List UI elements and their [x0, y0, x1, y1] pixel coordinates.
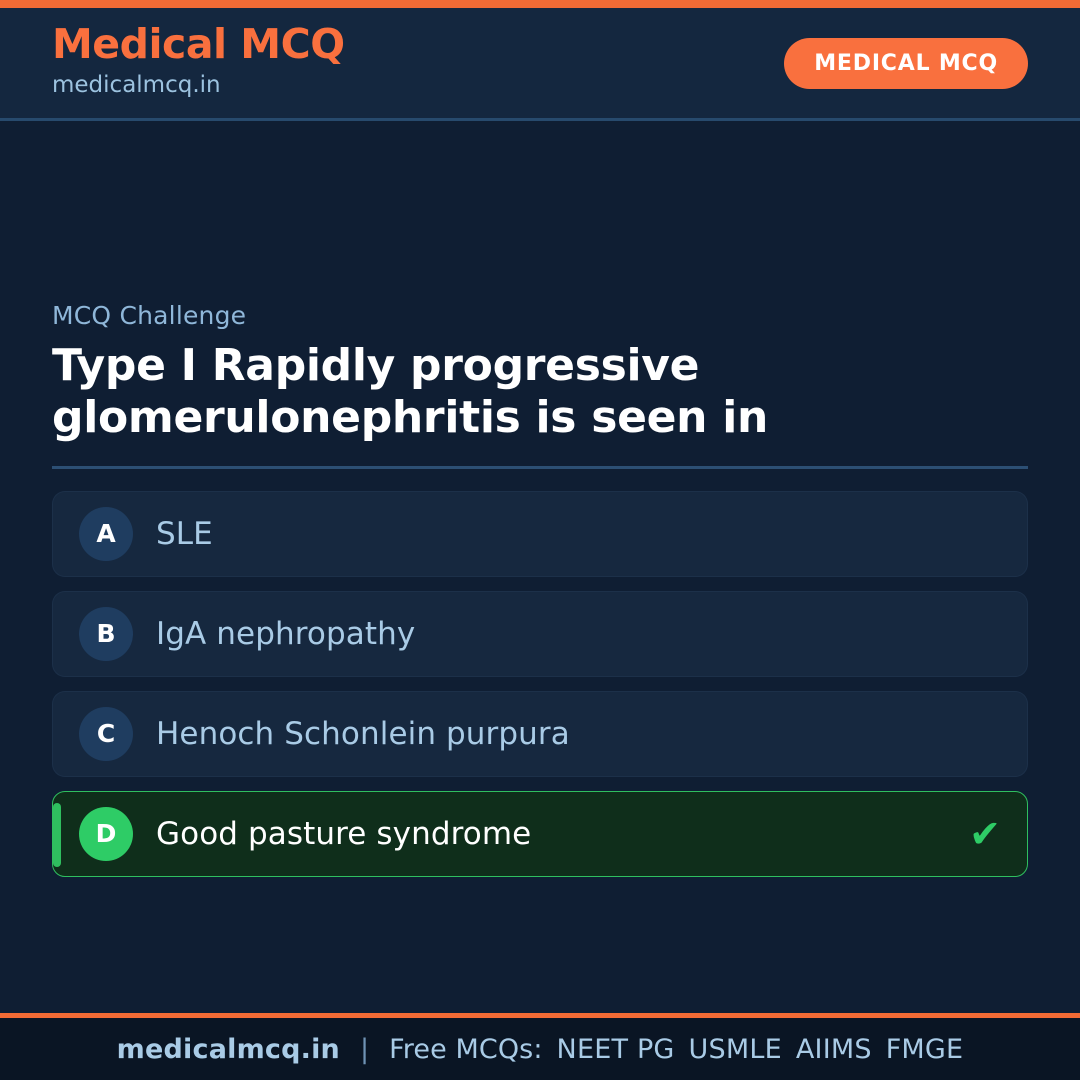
footer-exam-tag[interactable]: FMGE: [886, 1034, 964, 1065]
app-footer: medicalmcq.in | Free MCQs: NEET PGUSMLEA…: [0, 1013, 1080, 1080]
brand-block: Medical MCQ medicalmcq.in: [52, 23, 345, 103]
option-a[interactable]: ASLE: [52, 491, 1028, 577]
option-letter-badge: D: [79, 807, 133, 861]
option-d[interactable]: DGood pasture syndrome✔: [52, 791, 1028, 877]
mcq-card: Medical MCQ medicalmcq.in MEDICAL MCQ MC…: [0, 0, 1080, 1080]
option-letter-badge: A: [79, 507, 133, 561]
brand-title: Medical MCQ: [52, 23, 345, 66]
brand-subtitle: medicalmcq.in: [52, 68, 345, 103]
option-b[interactable]: BIgA nephropathy: [52, 591, 1028, 677]
question-divider: [52, 466, 1028, 469]
footer-label: Free MCQs:: [389, 1034, 542, 1065]
option-letter-badge: B: [79, 607, 133, 661]
option-label: IgA nephropathy: [156, 616, 415, 652]
app-header: Medical MCQ medicalmcq.in MEDICAL MCQ: [0, 8, 1080, 121]
main-content: MCQ Challenge Type I Rapidly progressive…: [0, 121, 1080, 1013]
footer-text: medicalmcq.in | Free MCQs: NEET PGUSMLEA…: [117, 1034, 964, 1065]
option-label: SLE: [156, 516, 213, 552]
option-letter-badge: C: [79, 707, 133, 761]
question-zone: MCQ Challenge Type I Rapidly progressive…: [52, 301, 1028, 877]
footer-exam-tag[interactable]: AIIMS: [796, 1034, 872, 1065]
footer-separator: |: [360, 1034, 369, 1065]
correct-accent-bar: [53, 803, 61, 867]
top-accent-bar: [0, 0, 1080, 8]
brand-badge: MEDICAL MCQ: [784, 38, 1028, 89]
footer-exam-list: NEET PGUSMLEAIIMSFMGE: [543, 1034, 964, 1065]
footer-site-link[interactable]: medicalmcq.in: [117, 1034, 340, 1065]
options-list: ASLEBIgA nephropathyCHenoch Schonlein pu…: [52, 491, 1028, 877]
footer-exam-tag[interactable]: NEET PG: [557, 1034, 675, 1065]
option-label: Henoch Schonlein purpura: [156, 716, 570, 752]
question-text: Type I Rapidly progressive glomeruloneph…: [52, 340, 952, 444]
eyebrow-label: MCQ Challenge: [52, 301, 1028, 330]
option-label: Good pasture syndrome: [156, 816, 531, 852]
check-icon: ✔: [969, 815, 1001, 853]
option-c[interactable]: CHenoch Schonlein purpura: [52, 691, 1028, 777]
footer-exam-tag[interactable]: USMLE: [689, 1034, 782, 1065]
